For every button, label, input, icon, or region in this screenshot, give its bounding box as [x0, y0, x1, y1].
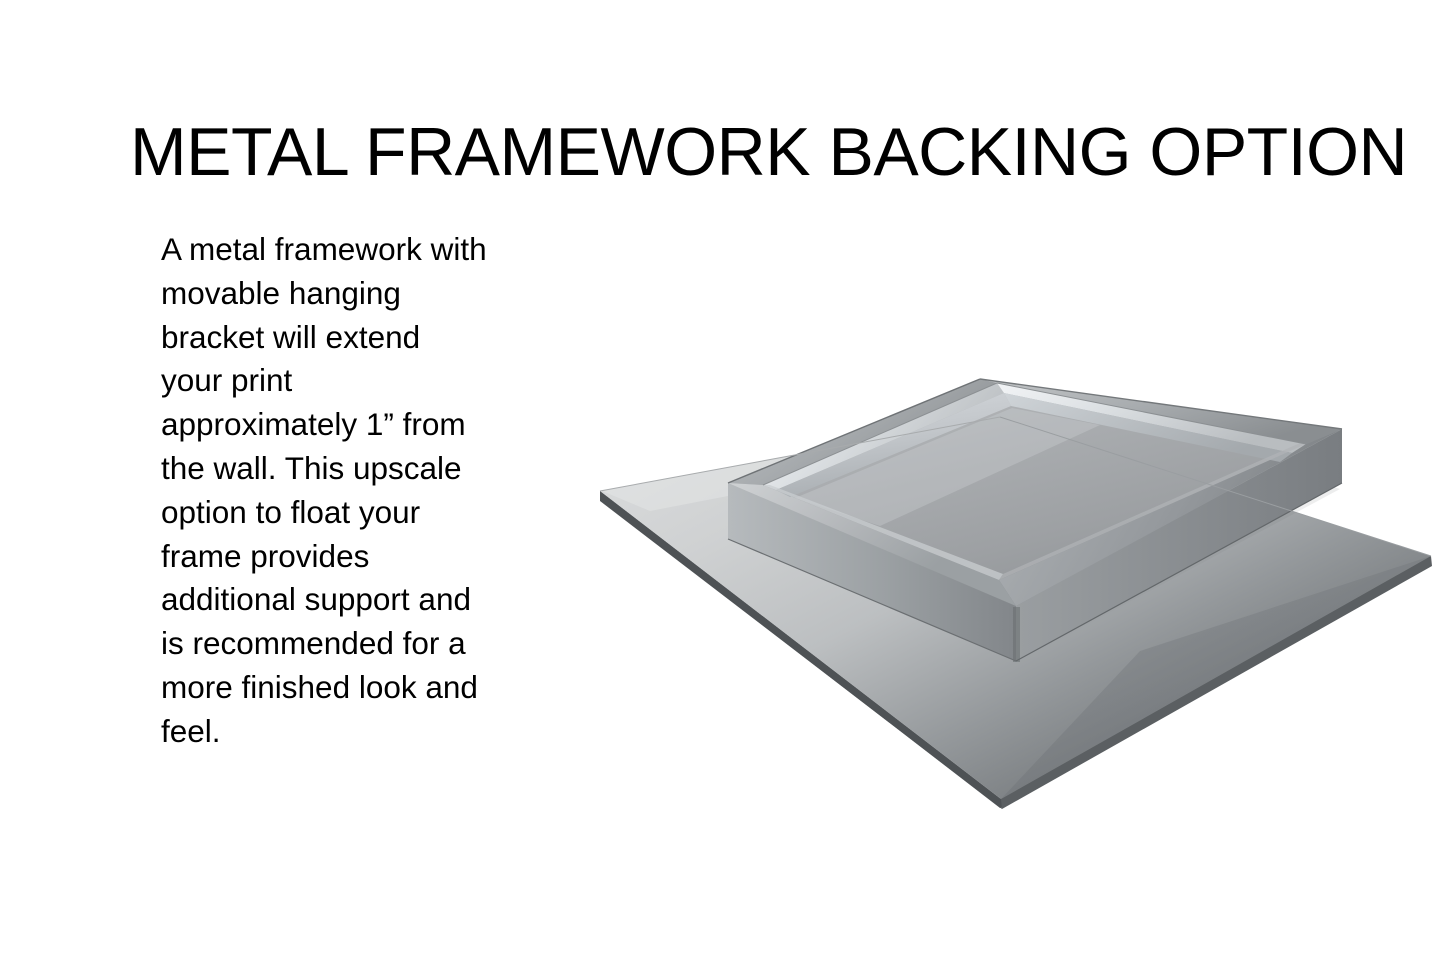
body-line: feel.	[161, 710, 553, 754]
body-line: A metal framework with	[161, 228, 553, 272]
page-title: METAL FRAMEWORK BACKING OPTION	[130, 118, 1370, 186]
body-line: your print	[161, 359, 553, 403]
body-line: frame provides	[161, 535, 553, 579]
body-line: more finished look and	[161, 666, 553, 710]
body-paragraph: A metal framework with movable hanging b…	[161, 228, 553, 754]
body-line: option to float your	[161, 491, 553, 535]
metal-framework-illustration	[580, 361, 1445, 821]
slide-canvas: METAL FRAMEWORK BACKING OPTION A metal f…	[0, 0, 1445, 963]
frame-wall-crease	[1013, 607, 1020, 662]
product-photo-metal-framework	[580, 361, 1445, 821]
body-line: additional support and	[161, 578, 553, 622]
body-line: movable hanging	[161, 272, 553, 316]
body-line: is recommended for a	[161, 622, 553, 666]
body-line: approximately 1” from	[161, 403, 553, 447]
body-line: bracket will extend	[161, 316, 553, 360]
body-line: the wall. This upscale	[161, 447, 553, 491]
